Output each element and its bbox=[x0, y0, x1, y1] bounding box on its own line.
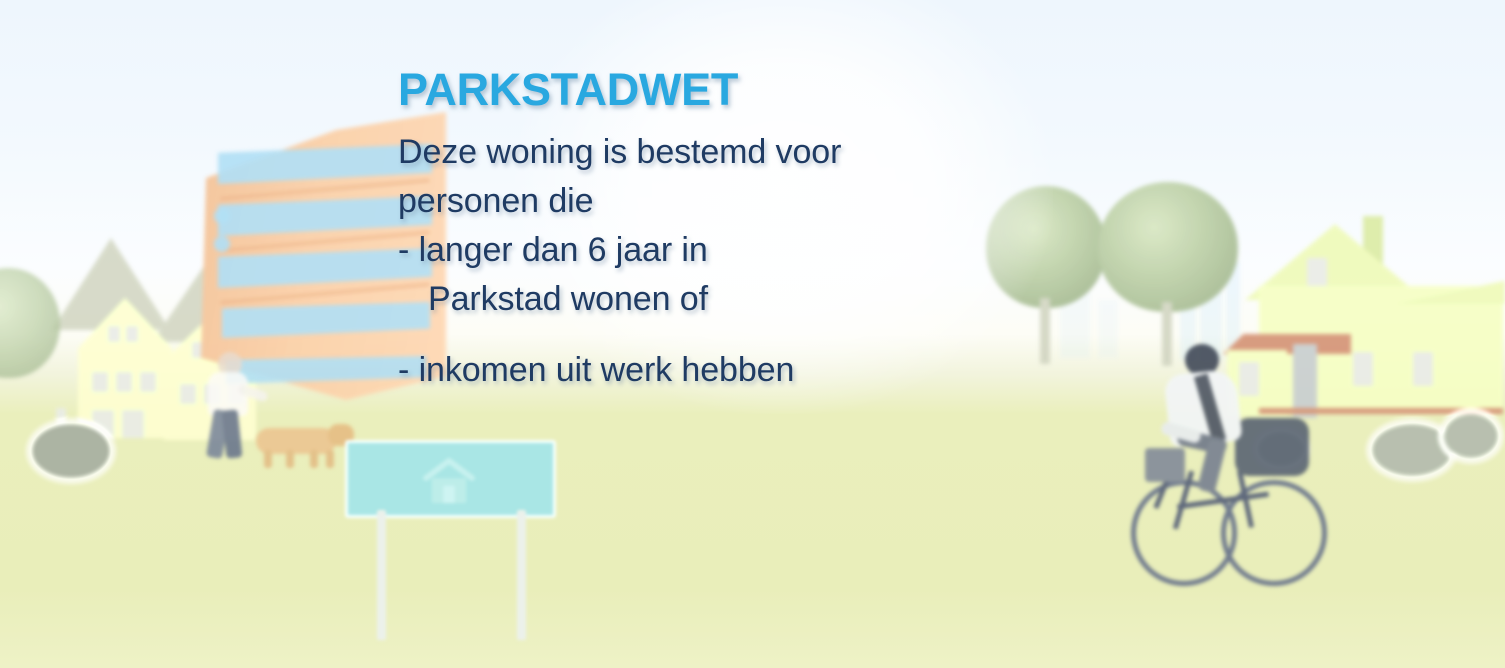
dog-figure bbox=[248, 418, 358, 468]
teal-billboard-sign bbox=[345, 440, 560, 640]
poster-line-3: - langer dan 6 jaar in bbox=[398, 226, 998, 275]
poster-line-2: personen die bbox=[398, 177, 998, 226]
house-icon bbox=[420, 455, 478, 505]
poster-line-4: Parkstad wonen of bbox=[398, 275, 998, 324]
page-title: PARKSTADWET bbox=[398, 66, 998, 114]
cyclist-figure bbox=[1125, 330, 1315, 585]
poster-text-panel: PARKSTADWET Deze woning is bestemd voor … bbox=[398, 66, 998, 394]
poster-line-5: - inkomen uit werk hebben bbox=[398, 346, 998, 395]
sign-board-panel bbox=[345, 440, 556, 518]
poster-canvas: PARKSTADWET Deze woning is bestemd voor … bbox=[0, 0, 1505, 668]
sign-post-right bbox=[517, 510, 526, 640]
poster-line-1: Deze woning is bestemd voor bbox=[398, 128, 998, 177]
sign-post-left bbox=[377, 510, 386, 640]
